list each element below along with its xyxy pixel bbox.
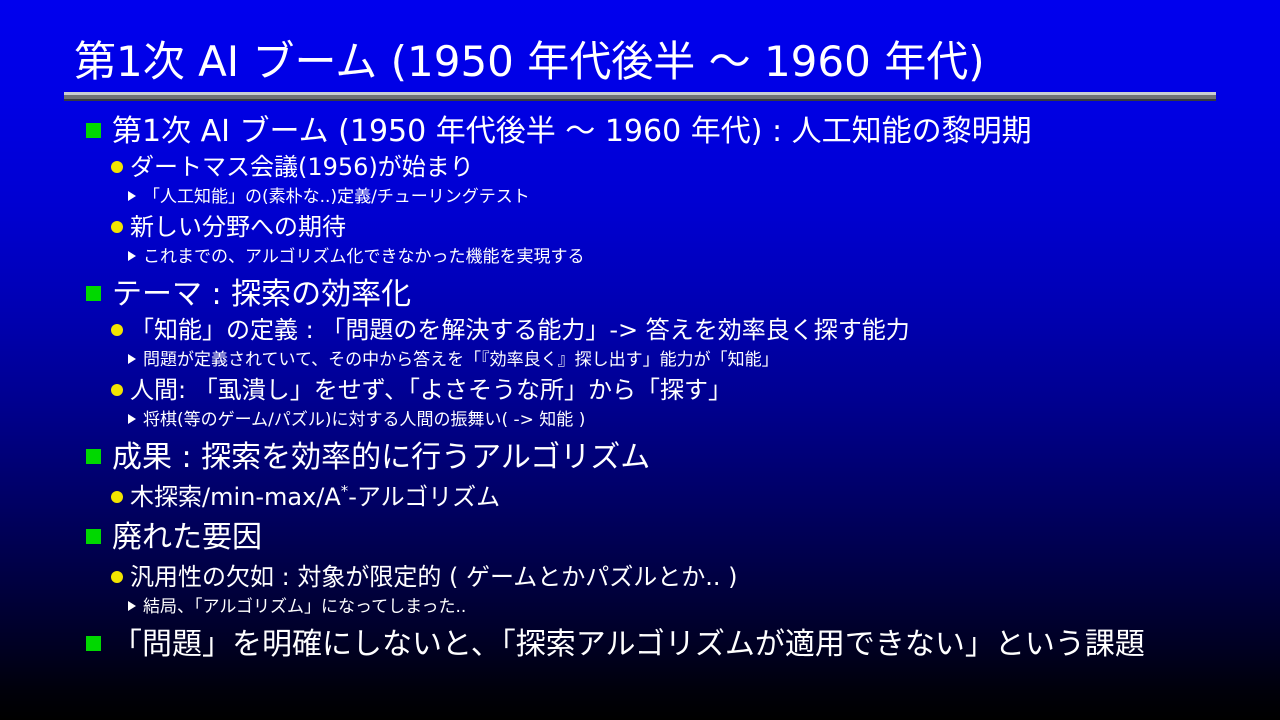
outline-item-text: テーマ : 探索の効率化	[112, 275, 411, 314]
outline-item-text: 成果 : 探索を効率的に行うアルゴリズム	[112, 438, 650, 477]
white-triangle-icon	[128, 191, 136, 201]
outline-item-level2: ダートマス会議(1956)が始まり	[0, 151, 1280, 184]
outline-item-level1: 「問題」を明確にしないと、「探索アルゴリズムが適用できない」という課題	[0, 625, 1280, 664]
outline-item-text: 問題が定義されていて、その中から答えを「『効率良く』探し出す」能力が「知能」	[143, 347, 779, 374]
yellow-disc-icon	[111, 221, 123, 233]
outline-item-text: 廃れた要因	[112, 518, 262, 557]
outline-item-level2: 汎用性の欠如 : 対象が限定的 ( ゲームとかパズルとか.. )	[0, 561, 1280, 594]
outline-item-level3: 問題が定義されていて、その中から答えを「『効率良く』探し出す」能力が「知能」	[0, 347, 1280, 374]
green-square-icon	[86, 636, 101, 651]
outline-item-text: これまでの、アルゴリズム化できなかった機能を実現する	[143, 244, 585, 271]
yellow-disc-icon	[111, 324, 123, 336]
outline-item-text: 第1次 AI ブーム (1950 年代後半 〜 1960 年代) : 人工知能の…	[112, 112, 1032, 151]
outline-item-level1: 成果 : 探索を効率的に行うアルゴリズム	[0, 438, 1280, 477]
presentation-slide: 第1次 AI ブーム (1950 年代後半 〜 1960 年代) 第1次 AI …	[0, 0, 1280, 720]
algorithm-text-before-star: 木探索/min-max/A	[130, 483, 341, 511]
outline-item-level2: 新しい分野への期待	[0, 211, 1280, 244]
yellow-disc-icon	[111, 161, 123, 173]
green-square-icon	[86, 286, 101, 301]
yellow-disc-icon	[111, 491, 123, 503]
outline-item-level3: これまでの、アルゴリズム化できなかった機能を実現する	[0, 244, 1280, 271]
page-title: 第1次 AI ブーム (1950 年代後半 〜 1960 年代)	[0, 34, 1280, 90]
outline-item-level2: 「知能」の定義 : 「問題のを解決する能力」-> 答えを効率良く探す能力	[0, 314, 1280, 347]
outline-item-text: ダートマス会議(1956)が始まり	[130, 151, 474, 184]
yellow-disc-icon	[111, 571, 123, 583]
outline-item-level3: 結局、「アルゴリズム」になってしまった..	[0, 594, 1280, 621]
yellow-disc-icon	[111, 384, 123, 396]
slide-outline: 第1次 AI ブーム (1950 年代後半 〜 1960 年代) : 人工知能の…	[0, 112, 1280, 664]
white-triangle-icon	[128, 601, 136, 611]
white-triangle-icon	[128, 251, 136, 261]
green-square-icon	[86, 123, 101, 138]
outline-item-text: 将棋(等のゲーム/パズル)に対する人間の振舞い( -> 知能 )	[143, 407, 585, 434]
outline-item-level1: 廃れた要因	[0, 518, 1280, 557]
title-divider	[64, 92, 1216, 101]
white-triangle-icon	[128, 414, 136, 424]
outline-item-text: 木探索/min-max/A*-アルゴリズム	[130, 481, 500, 514]
outline-item-level2: 人間: 「虱潰し」をせず、「よさそうな所」から「探す」	[0, 374, 1280, 407]
algorithm-text-after-star: -アルゴリズム	[348, 483, 500, 511]
outline-item-level3: 「人工知能」の(素朴な..)定義/チューリングテスト	[0, 184, 1280, 211]
outline-item-text: 「人工知能」の(素朴な..)定義/チューリングテスト	[143, 184, 530, 211]
outline-item-text: 汎用性の欠如 : 対象が限定的 ( ゲームとかパズルとか.. )	[130, 561, 738, 594]
outline-item-level1: テーマ : 探索の効率化	[0, 275, 1280, 314]
outline-item-level2: 木探索/min-max/A*-アルゴリズム	[0, 481, 1280, 514]
outline-item-text: 「問題」を明確にしないと、「探索アルゴリズムが適用できない」という課題	[112, 625, 1145, 664]
outline-item-text: 「知能」の定義 : 「問題のを解決する能力」-> 答えを効率良く探す能力	[130, 314, 910, 347]
outline-item-text: 人間: 「虱潰し」をせず、「よさそうな所」から「探す」	[130, 374, 732, 407]
white-triangle-icon	[128, 354, 136, 364]
outline-item-level3: 将棋(等のゲーム/パズル)に対する人間の振舞い( -> 知能 )	[0, 407, 1280, 434]
outline-item-text: 結局、「アルゴリズム」になってしまった..	[143, 594, 466, 621]
green-square-icon	[86, 449, 101, 464]
green-square-icon	[86, 529, 101, 544]
title-block: 第1次 AI ブーム (1950 年代後半 〜 1960 年代)	[0, 34, 1280, 90]
outline-item-level1: 第1次 AI ブーム (1950 年代後半 〜 1960 年代) : 人工知能の…	[0, 112, 1280, 151]
outline-item-text: 新しい分野への期待	[130, 211, 346, 244]
